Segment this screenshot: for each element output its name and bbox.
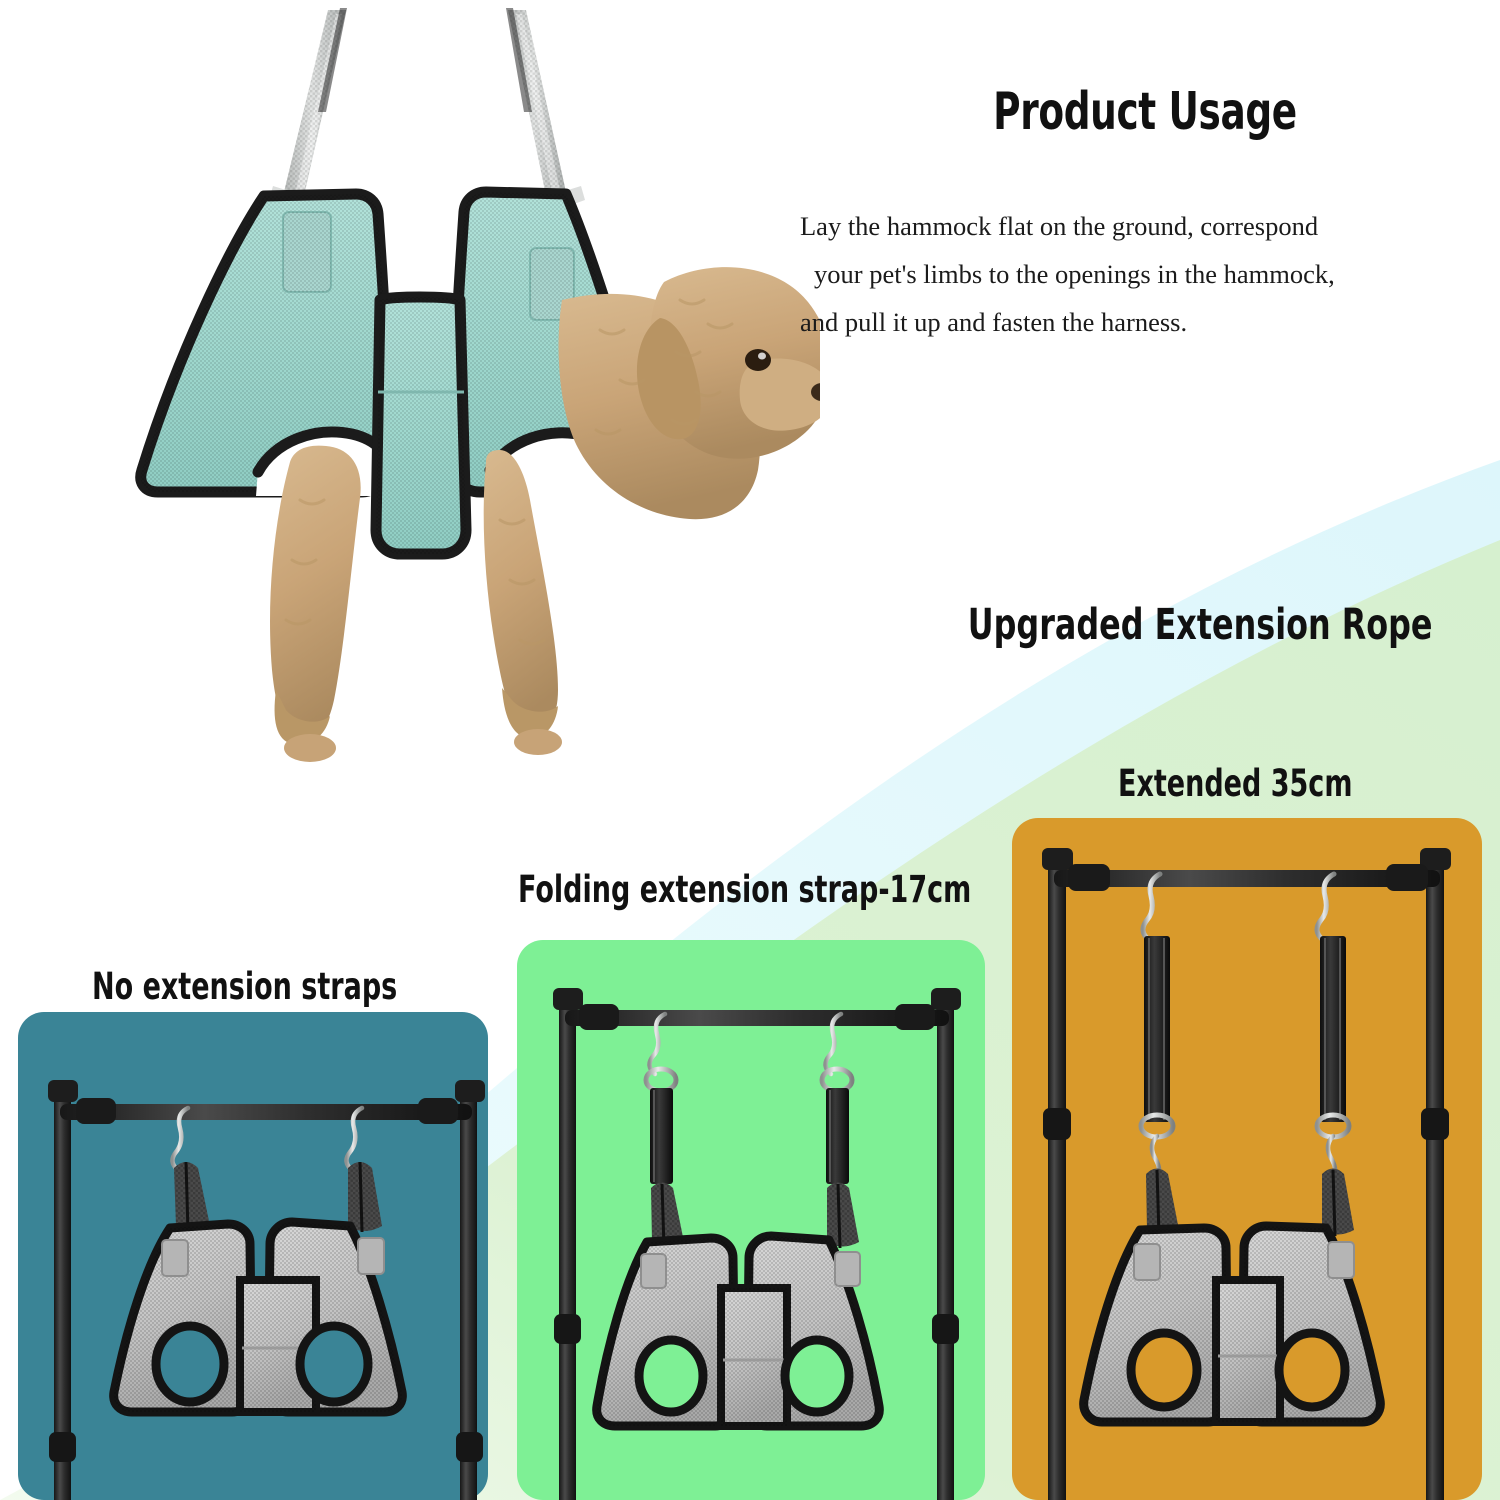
usage-line-2: your pet's limbs to the openings in the …: [800, 250, 1490, 298]
panel-label-no-extension: No extension straps: [92, 965, 397, 1008]
panel-label-extended: Extended 35cm: [1118, 762, 1352, 805]
panel-extended-35cm: [1012, 818, 1482, 1500]
hammock-left-wing: [141, 194, 390, 496]
infographic-canvas: Product Usage Lay the hammock flat on th…: [0, 0, 1500, 1500]
extension-strap-short-right: [826, 1088, 849, 1184]
section-heading-extension-rope: Upgraded Extension Rope: [968, 600, 1382, 650]
usage-copy-block: Product Usage Lay the hammock flat on th…: [800, 85, 1490, 346]
usage-line-3: and pull it up and fasten the harness.: [800, 298, 1490, 346]
extension-strap-long-left: [1144, 936, 1170, 1122]
hanging-strap-left: [269, 8, 347, 214]
hammock-center-belly-strap: [376, 297, 466, 554]
hanging-strap-right: [506, 8, 585, 214]
panel-no-extension-straps: [18, 1012, 488, 1500]
usage-line-1: Lay the hammock flat on the ground, corr…: [800, 202, 1490, 250]
hero-product-photo: [60, 0, 820, 790]
panel-label-folding-extension: Folding extension strap-17cm: [518, 868, 971, 911]
page-title: Product Usage: [897, 85, 1394, 140]
panel-folding-extension-strap: [517, 940, 985, 1500]
usage-instructions: Lay the hammock flat on the ground, corr…: [800, 202, 1490, 347]
extension-strap-long-right: [1320, 936, 1346, 1122]
extension-strap-short-left: [650, 1088, 673, 1184]
